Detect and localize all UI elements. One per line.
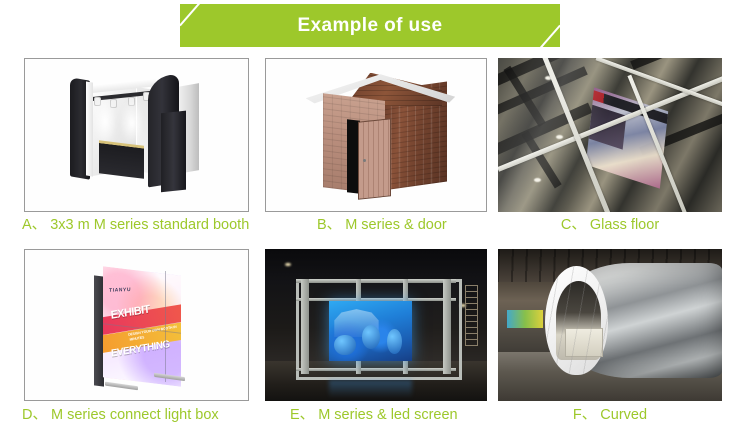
banner-slash-top-left-icon <box>180 4 215 26</box>
image-frame-e <box>265 249 487 401</box>
caption-f: F、 Curved <box>498 408 722 423</box>
caption-a: A、 3x3 m M series standard booth <box>10 218 312 233</box>
header-banner: Example of use <box>180 4 560 47</box>
exhibition-booth-photo <box>25 59 248 211</box>
page-title: Example of use <box>298 16 443 35</box>
glass-floor-photo <box>498 58 722 212</box>
image-frame-a <box>24 58 249 212</box>
image-frame-f <box>498 249 722 401</box>
banner-slash-bottom-right-icon <box>525 25 560 47</box>
image-frame-c <box>498 58 722 212</box>
caption-b: B、 M series & door <box>305 218 517 233</box>
caption-c: C、 Glass floor <box>498 218 722 233</box>
example-gallery: A、 3x3 m M series standard booth B、 M se… <box>0 52 745 439</box>
header-banner-background: Example of use <box>180 4 560 47</box>
light-box-photo: TIANYU EXHIBIT DESIGN YOUR OWN BOOTH IN … <box>25 250 248 400</box>
gallery-item-d[interactable]: TIANYU EXHIBIT DESIGN YOUR OWN BOOTH IN … <box>24 249 249 401</box>
caption-e: E、 M series & led screen <box>278 408 520 423</box>
brick-house-door-photo <box>266 59 486 211</box>
gallery-item-e[interactable] <box>265 249 487 401</box>
gallery-item-f[interactable] <box>498 249 722 401</box>
image-frame-b <box>265 58 487 212</box>
curved-tunnel-photo <box>498 249 722 401</box>
gallery-item-c[interactable] <box>498 58 722 212</box>
image-frame-d: TIANYU EXHIBIT DESIGN YOUR OWN BOOTH IN … <box>24 249 249 401</box>
caption-d: D、 M series connect light box <box>10 408 322 423</box>
gallery-item-b[interactable] <box>265 58 487 212</box>
led-screen-photo <box>265 249 487 401</box>
lightbox-brand-text: TIANYU <box>109 287 132 294</box>
gallery-item-a[interactable] <box>24 58 249 212</box>
